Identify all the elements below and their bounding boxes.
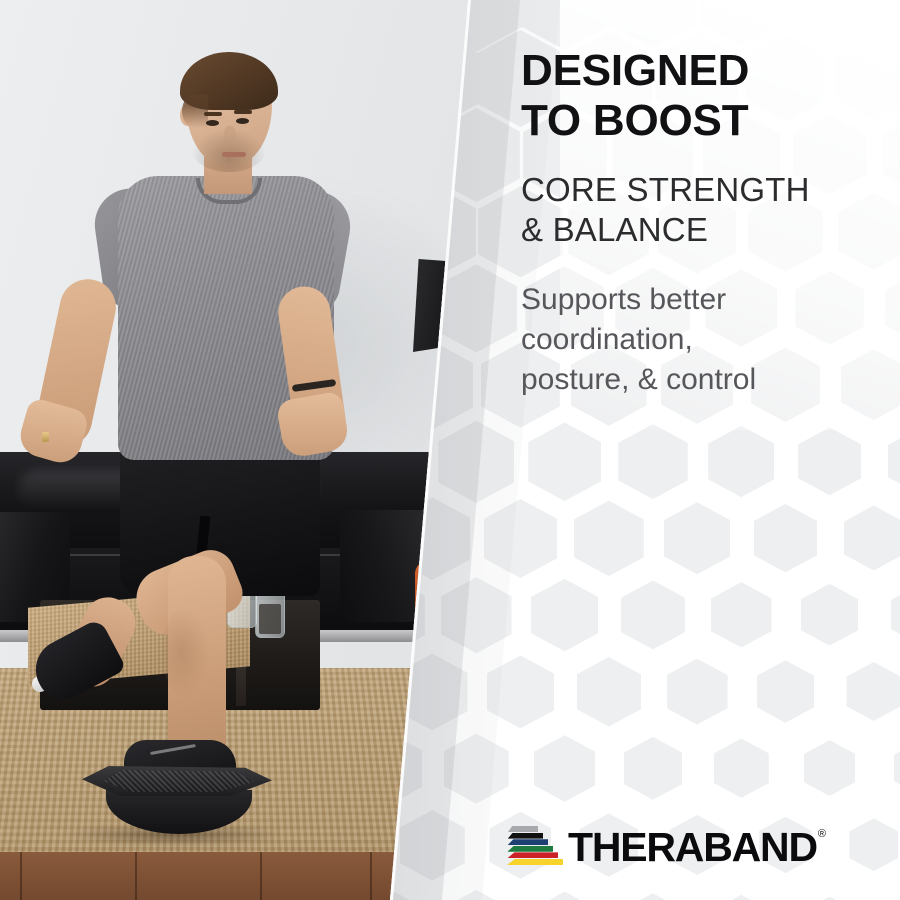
hexagon	[888, 429, 900, 493]
hexagon	[714, 738, 769, 797]
board-rocker-base	[106, 790, 252, 834]
hexagon	[531, 579, 598, 652]
hexagon	[804, 740, 856, 796]
eyebrow-right	[234, 110, 252, 114]
theraband-wordmark: THERABAND	[568, 826, 817, 868]
hexagon	[757, 660, 815, 722]
hexagon	[667, 659, 728, 725]
calf-shading	[162, 606, 210, 698]
marketing-copy: DESIGNED TO BOOST CORE STRENGTH & BALANC…	[521, 46, 881, 400]
hexagon	[754, 504, 817, 572]
hexagon	[798, 427, 861, 495]
mouth	[222, 152, 246, 157]
logo-stripe	[507, 846, 553, 852]
hexagon	[711, 582, 772, 647]
hexagon	[577, 657, 641, 726]
hexagon	[621, 580, 685, 649]
headline-line-2: TO BOOST	[521, 96, 881, 146]
hexagon	[891, 585, 900, 643]
logo-stripe	[507, 852, 558, 858]
theraband-stripes-icon	[508, 826, 564, 868]
body-line-1: Supports better	[521, 280, 881, 320]
hexagon	[708, 426, 774, 497]
hexagon	[844, 506, 900, 571]
hair-fade	[182, 94, 208, 128]
page-title: DESIGNED TO BOOST	[521, 46, 881, 146]
logo-stripe	[508, 826, 538, 832]
finger-ring	[42, 432, 49, 442]
hexagon	[537, 892, 593, 900]
subheadline-line-2: & BALANCE	[521, 210, 881, 250]
hexagon	[534, 735, 596, 801]
nose	[224, 126, 236, 146]
logo-stripe	[508, 833, 543, 839]
hexagon	[807, 897, 853, 900]
hexagon	[849, 818, 898, 871]
theraband-logo: THERABAND ®	[508, 826, 826, 868]
hexagon	[846, 662, 900, 721]
registered-trademark-icon: ®	[818, 828, 826, 840]
subheadline-line-1: CORE STRENGTH	[521, 170, 881, 210]
body-line-3: posture, & control	[521, 360, 881, 400]
balance-board	[82, 766, 272, 834]
subheadline: CORE STRENGTH & BALANCE	[521, 170, 881, 250]
eye-right	[236, 118, 249, 124]
hexagon	[618, 424, 687, 499]
body-line-2: coordination,	[521, 320, 881, 360]
hand-right	[275, 391, 350, 460]
eyebrow-left	[204, 112, 222, 116]
hexagon	[624, 737, 682, 800]
hexagon	[664, 502, 731, 574]
headline-line-1: DESIGNED	[521, 46, 881, 96]
hexagon	[574, 501, 644, 577]
body-copy: Supports better coordination, posture, &…	[521, 280, 881, 400]
hexagon	[528, 422, 601, 501]
hexagon	[717, 895, 766, 900]
hexagon	[894, 742, 900, 794]
hexagon	[627, 893, 680, 900]
logo-stripe	[508, 839, 548, 845]
hexagon	[801, 584, 858, 646]
product-feature-card: DESIGNED TO BOOST CORE STRENGTH & BALANC…	[0, 0, 900, 900]
logo-stripe	[507, 859, 563, 865]
eye-left	[206, 120, 219, 126]
